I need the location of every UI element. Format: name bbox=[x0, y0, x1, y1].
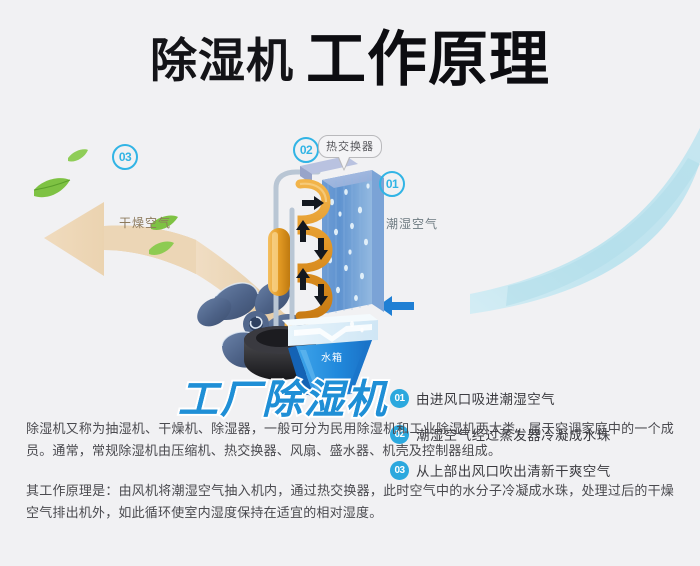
page-title: 除湿机 工作原理 bbox=[0, 24, 700, 96]
description-paragraph-2: 其工作原理是：由风机将潮湿空气抽入机内，通过热交换器，此时空气中的水分子冷凝成水… bbox=[26, 480, 674, 524]
label-water-tank: 水箱 bbox=[321, 349, 343, 364]
diagram-artwork bbox=[0, 118, 700, 410]
label-dry-air: 干燥空气 bbox=[119, 214, 171, 231]
step-item-01: 01 由进风口吸进潮湿空气 bbox=[390, 380, 690, 416]
watermark-text: 工厂除湿机 bbox=[178, 380, 388, 420]
page-title-part2: 工作原理 bbox=[306, 30, 550, 90]
dehumidifier-diagram: 03 02 01 热交换器 干燥空气 潮湿空气 水箱 01 由进风口吸进潮湿空气… bbox=[0, 118, 700, 410]
diagram-badge-02: 02 bbox=[293, 137, 319, 163]
diagram-badge-03: 03 bbox=[112, 144, 138, 170]
description-block: 除湿机又称为抽湿机、干燥机、除湿器，一般可分为民用除湿机和工业除湿机两大类，属于… bbox=[26, 418, 674, 524]
heat-exchanger-callout: 热交换器 bbox=[318, 135, 382, 158]
diagram-badge-01: 01 bbox=[379, 171, 405, 197]
page-root: 除湿机 工作原理 bbox=[0, 0, 700, 566]
page-title-part1: 除湿机 bbox=[150, 37, 294, 84]
description-paragraph-1: 除湿机又称为抽湿机、干燥机、除湿器，一般可分为民用除湿机和工业除湿机两大类，属于… bbox=[26, 418, 674, 462]
step-number-01: 01 bbox=[390, 389, 409, 408]
step-text-01: 由进风口吸进潮湿空气 bbox=[416, 388, 555, 408]
label-humid-air: 潮湿空气 bbox=[386, 215, 438, 232]
